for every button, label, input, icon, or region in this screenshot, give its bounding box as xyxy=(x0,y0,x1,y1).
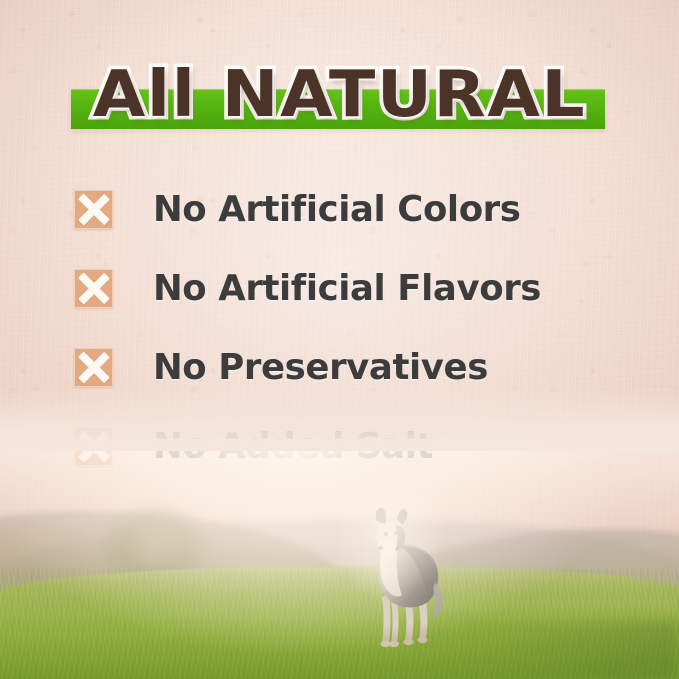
all-natural-feature-poster: All NATURAL No Artificial Colors No Arti… xyxy=(0,0,679,679)
list-item: No Preservatives xyxy=(74,328,634,407)
landscape-photo xyxy=(0,439,679,679)
border-collie-dog xyxy=(355,505,447,657)
x-mark-icon xyxy=(74,269,113,308)
list-item: No Artificial Colors xyxy=(74,170,634,249)
x-mark-icon xyxy=(74,190,113,229)
list-item: No Artificial Flavors xyxy=(74,249,634,328)
page-title: All NATURAL xyxy=(0,52,679,138)
x-mark-icon xyxy=(74,348,113,387)
benefit-label: No Artificial Colors xyxy=(153,189,521,230)
benefit-label: No Artificial Flavors xyxy=(153,268,541,309)
benefit-label: No Preservatives xyxy=(153,347,488,388)
headline-banner: All NATURAL xyxy=(0,52,679,138)
